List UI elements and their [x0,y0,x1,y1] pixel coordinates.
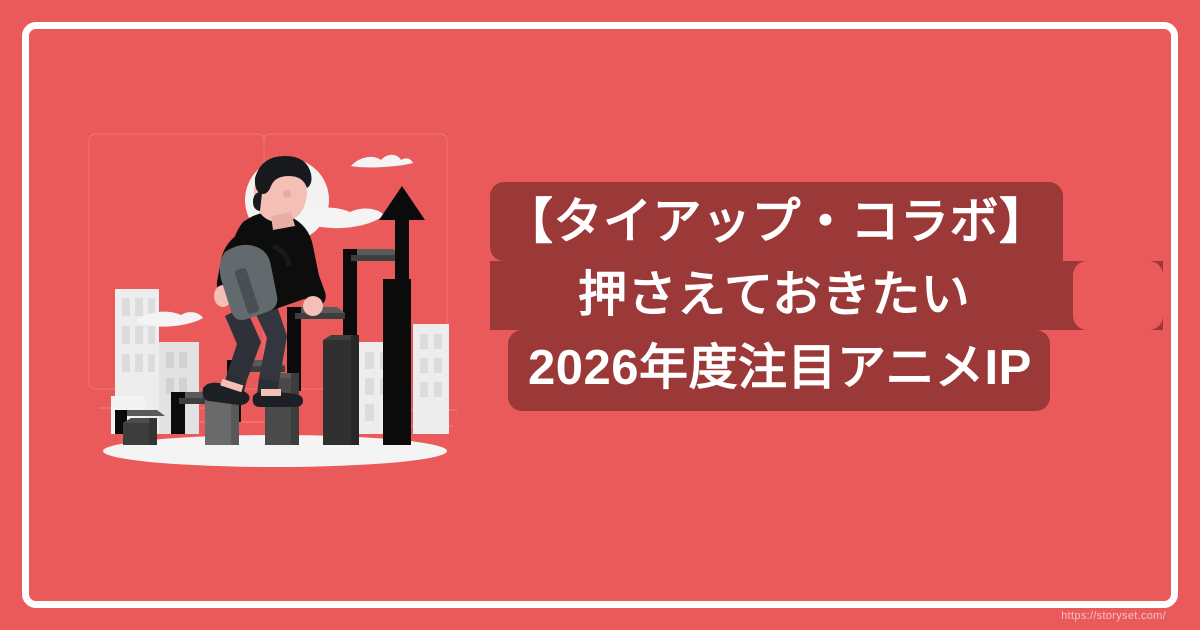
headline-line-3: 2026年度注目アニメIP [508,330,1050,411]
headline-line-1: 【タイアップ・コラボ】 [490,182,1063,261]
headline-line-2: 押さえておきたい [490,261,1163,330]
headline-line-2-wrapper: 押さえておきたい [490,261,1163,330]
headline-block: 【タイアップ・コラボ】 押さえておきたい 2026年度注目アニメIP [490,182,1170,411]
illustration-businessman-climbing-chart [75,120,475,480]
storyset-watermark: https://storyset.com/ [1061,610,1166,622]
front-hand [303,296,323,316]
poster-canvas: 【タイアップ・コラボ】 押さえておきたい 2026年度注目アニメIP https… [0,0,1200,630]
cheek [283,190,291,198]
